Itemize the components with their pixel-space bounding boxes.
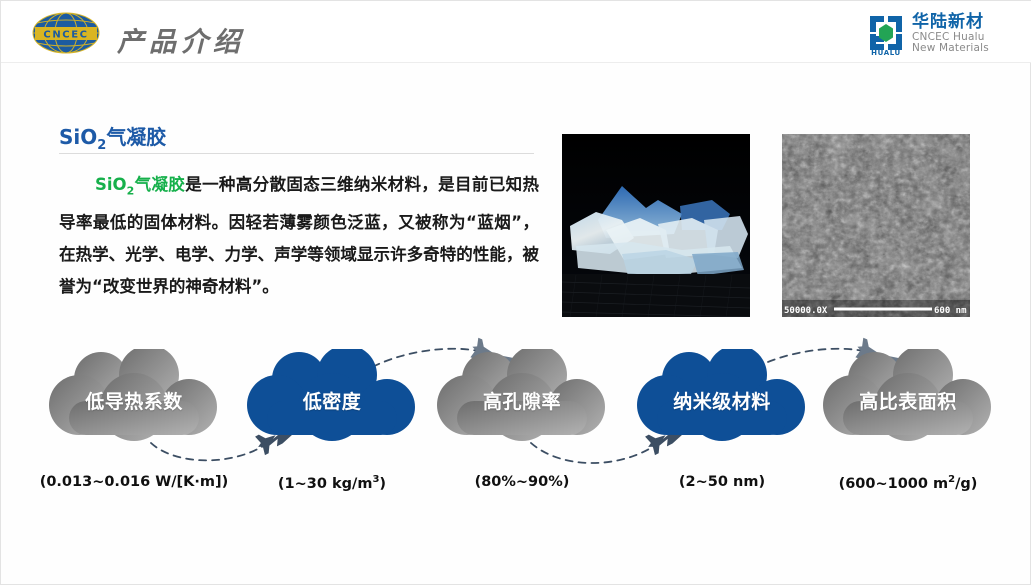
hualu-mark-icon: HUALU <box>866 12 906 56</box>
paragraph-highlight-suffix: 气凝胶 <box>134 175 185 194</box>
cloud-label: 高比表面积 <box>813 387 1003 414</box>
feature-item-nano-scale-material[interactable]: 纳米级材料 (2~50 nm) <box>627 331 817 506</box>
caption-suffix: /g) <box>955 476 977 492</box>
cloud-label: 低导热系数 <box>39 387 229 414</box>
slide-header: CNCEC 产品介绍 HUALU 华陆新材 CNCEC Hualu New <box>1 1 1031 63</box>
feature-item-low-thermal-conductivity[interactable]: 低导热系数 (0.013~0.016 W/[K·m]) <box>39 331 229 506</box>
cncec-globe-icon: CNCEC <box>23 9 109 57</box>
feature-item-low-density[interactable]: 低密度 (1~30 kg/m3) <box>237 331 427 506</box>
cloud-caption: (0.013~0.016 W/[K·m]) <box>19 474 249 490</box>
cloud-label: 低密度 <box>237 387 427 414</box>
section-heading-prefix: SiO <box>59 125 97 149</box>
paragraph-highlight-prefix: SiO <box>95 175 127 194</box>
cloud-label: 纳米级材料 <box>627 387 817 414</box>
hualu-brand-logo: HUALU 华陆新材 CNCEC Hualu New Materials <box>866 11 1018 57</box>
feature-item-high-specific-surface-area[interactable]: 高比表面积 (600~1000 m2/g) <box>813 331 1003 506</box>
cloud-label: 高孔隙率 <box>427 387 617 414</box>
aerogel-sample-photo <box>562 134 750 317</box>
page-title: 产品介绍 <box>117 20 245 59</box>
caption-prefix: (600~1000 m <box>839 476 949 492</box>
section-heading-sub: 2 <box>97 138 106 153</box>
feature-item-high-porosity[interactable]: 高孔隙率 (80%~90%) <box>427 331 617 506</box>
heading-divider <box>59 153 534 154</box>
cloud-caption: (600~1000 m2/g) <box>793 474 1023 492</box>
feature-cloud-row: 低导热系数 (0.013~0.016 W/[K·m]) 低密度 (1~30 kg… <box>1 331 1031 506</box>
aerogel-sem-micrograph: 50000.0X 600 nm <box>782 134 970 317</box>
caption-prefix: (1~30 kg/m <box>278 476 373 492</box>
sem-magnification-label: 50000.0X <box>784 306 828 316</box>
intro-paragraph: SiO2气凝胶是一种高分散固态三维纳米材料，是目前已知热导率最低的固体材料。因轻… <box>59 169 539 303</box>
cloud-caption: (80%~90%) <box>407 474 637 490</box>
svg-text:CNCEC: CNCEC <box>43 30 88 41</box>
hualu-en-line2: New Materials <box>912 43 989 54</box>
section-heading: SiO2气凝胶 <box>59 121 166 153</box>
sem-scalebar-label: 600 nm <box>934 306 967 316</box>
hualu-cn-name: 华陆新材 <box>912 14 989 32</box>
section-heading-suffix: 气凝胶 <box>106 125 166 149</box>
caption-suffix: ) <box>379 476 386 492</box>
svg-text:HUALU: HUALU <box>871 49 901 56</box>
slide-canvas: CNCEC 产品介绍 HUALU 华陆新材 CNCEC Hualu New <box>0 0 1031 585</box>
paragraph-highlight: SiO2气凝胶 <box>95 175 185 194</box>
